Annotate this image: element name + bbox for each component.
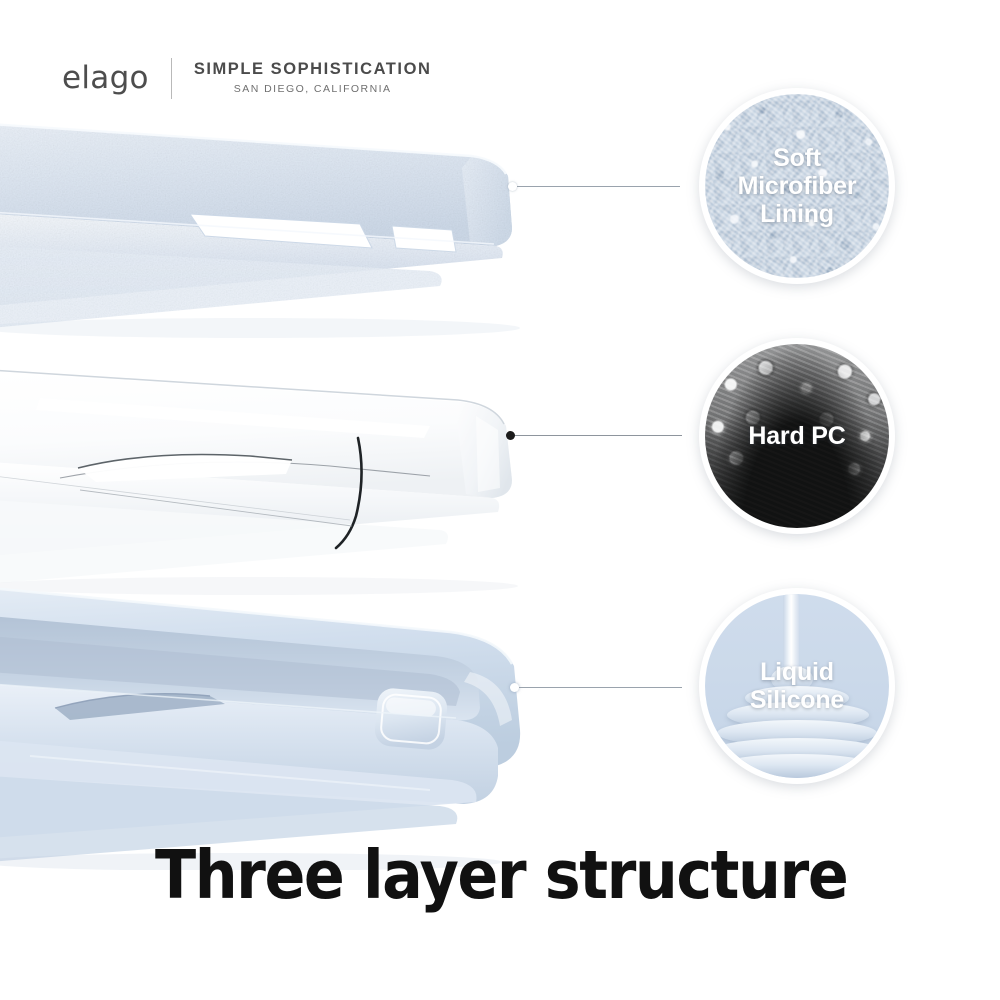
- callout-label-line-2: Microfiber: [738, 172, 857, 200]
- leader-stroke-microfiber: [517, 186, 680, 187]
- callout-soft-microfiber-lining: Soft Microfiber Lining: [699, 88, 895, 284]
- leader-line-microfiber: [508, 179, 680, 193]
- leader-line-hardpc: [506, 428, 682, 442]
- callout-hard-pc: Hard PC: [699, 338, 895, 534]
- elago-logo: elago: [62, 63, 171, 94]
- callout-label-line-2: Silicone: [750, 686, 844, 714]
- leader-stroke-silicone: [519, 687, 682, 688]
- leader-dot-silicone: [510, 683, 519, 692]
- page-headline: Three layer structure: [155, 842, 847, 909]
- callout-label-silicone: Liquid Silicone: [744, 658, 850, 714]
- callout-label-line-3: Lining: [738, 200, 857, 228]
- leader-stroke-hardpc: [515, 435, 682, 436]
- leader-line-silicone: [510, 680, 682, 694]
- callout-liquid-silicone: Liquid Silicone: [699, 588, 895, 784]
- leader-dot-hardpc: [506, 431, 515, 440]
- callout-inner-hardpc: Hard PC: [705, 344, 889, 528]
- liquid-silicone-case-layer: [0, 580, 600, 870]
- callout-label-hardpc: Hard PC: [742, 422, 851, 450]
- callout-label-line-1: Liquid: [750, 658, 844, 686]
- callout-label-microfiber: Soft Microfiber Lining: [732, 144, 863, 228]
- case-side-button: [374, 687, 449, 751]
- soft-microfiber-lining-layer: [0, 96, 600, 346]
- callout-label-line-1: Soft: [738, 144, 857, 172]
- leader-dot-microfiber: [508, 182, 517, 191]
- brand-tagline: SIMPLE SOPHISTICATION: [194, 60, 432, 79]
- brand-tagline-block: SIMPLE SOPHISTICATION SAN DIEGO, CALIFOR…: [172, 60, 432, 96]
- brand-location: SAN DIEGO, CALIFORNIA: [194, 83, 432, 96]
- silicone-coil: [719, 754, 875, 778]
- callout-inner-microfiber: Soft Microfiber Lining: [705, 94, 889, 278]
- callout-inner-silicone: Liquid Silicone: [705, 594, 889, 778]
- hard-pc-shell-layer: [0, 350, 600, 600]
- callout-label-line-1: Hard PC: [748, 422, 845, 450]
- infographic-canvas: elago SIMPLE SOPHISTICATION SAN DIEGO, C…: [0, 0, 1000, 1000]
